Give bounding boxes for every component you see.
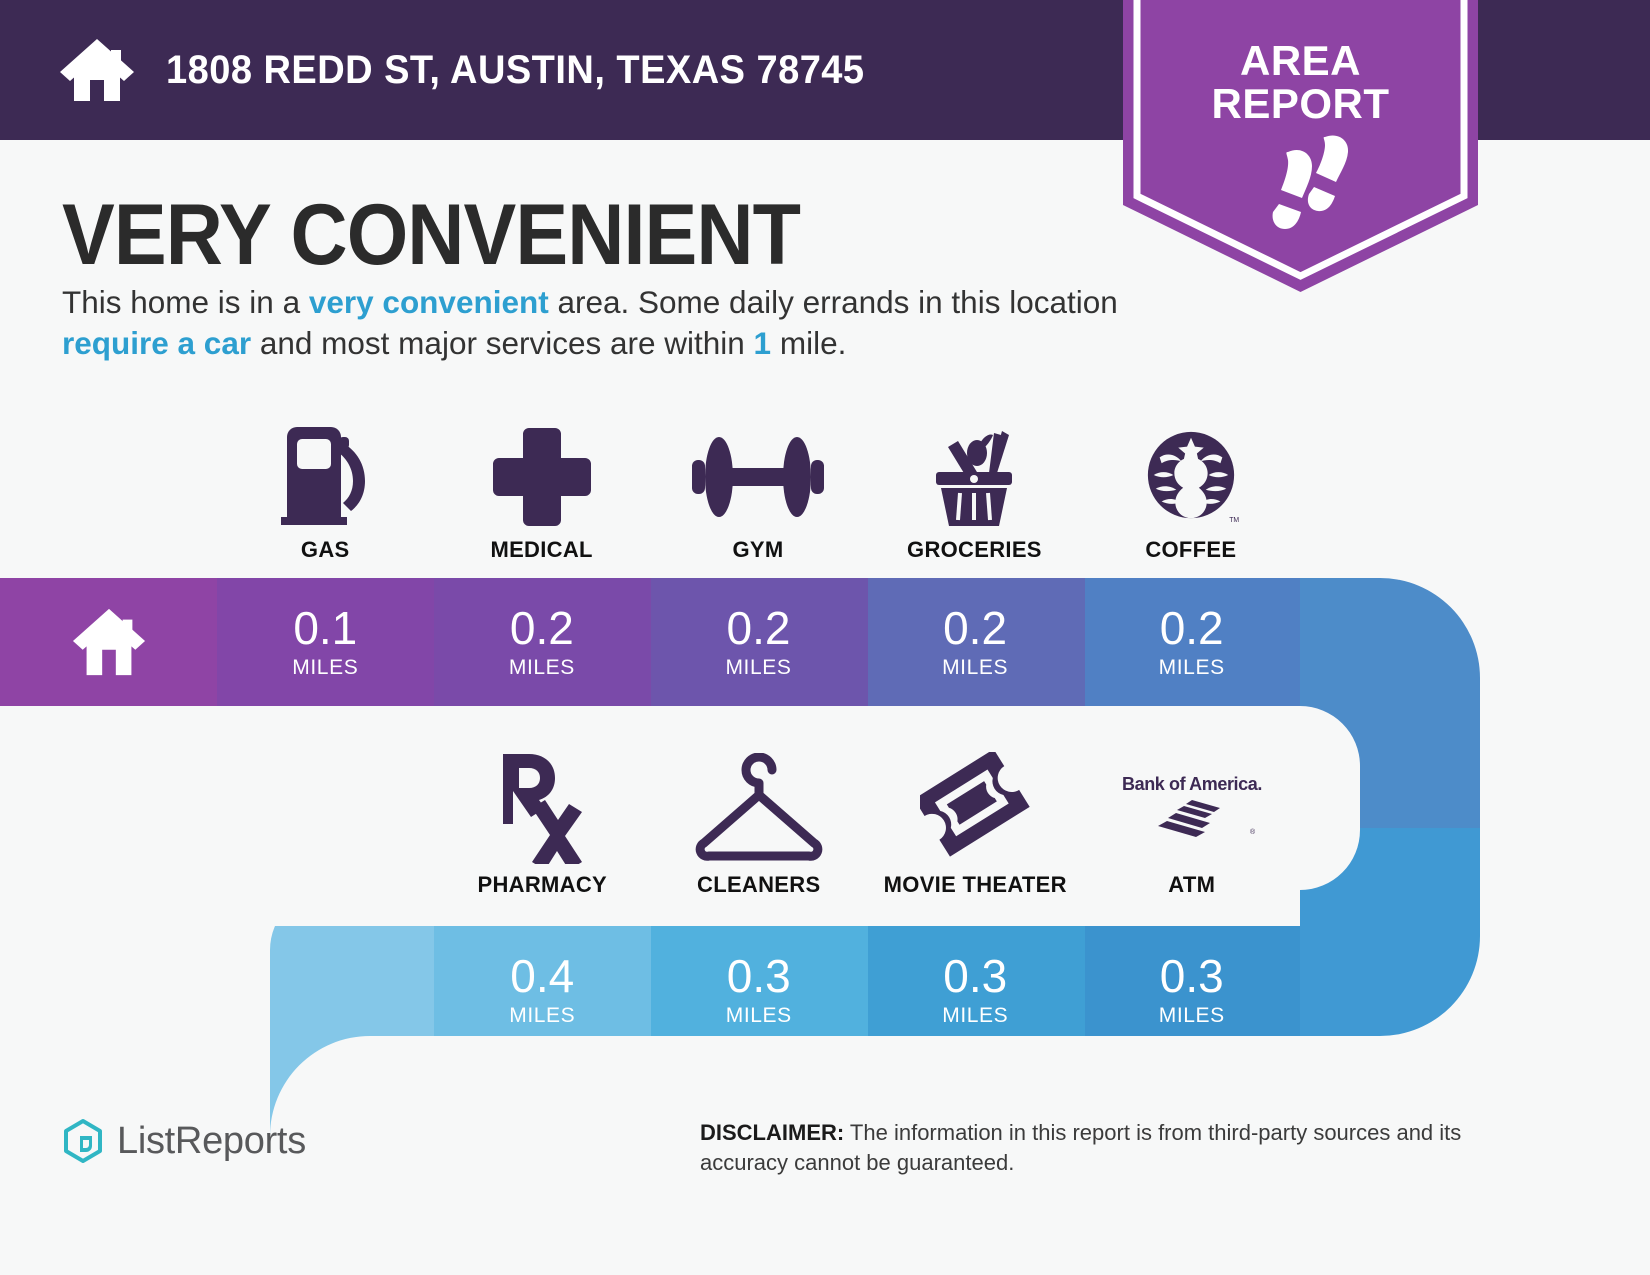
service-label: MEDICAL [490,537,592,563]
distance-unit: MILES [1159,1004,1225,1028]
medical-cross-icon [493,424,591,529]
distance-cell-movie-theater: 0.3 MILES [867,926,1084,1054]
distance-value: 0.3 [727,953,791,999]
distance-unit: MILES [509,656,575,680]
badge-line-2: REPORT [1123,83,1478,126]
service-gym: GYM [650,418,866,563]
distance-value: 0.4 [510,953,574,999]
listreports-house-icon [62,1118,104,1164]
summary-part-3: and most major services are within [251,325,753,361]
service-groceries: GROCERIES [866,418,1082,563]
disclaimer: DISCLAIMER: The information in this repo… [700,1118,1520,1178]
distance-cell-pharmacy: 0.4 MILES [434,926,651,1054]
badge-title: AREA REPORT [1123,40,1478,126]
distance-unit: MILES [292,656,358,680]
distance-unit: MILES [1159,656,1225,680]
distance-value-row-1: 0.1 MILES 0.2 MILES 0.2 MILES 0.2 MILES … [0,578,1300,706]
distance-unit: MILES [509,1004,575,1028]
property-address: 1808 REDD ST, AUSTIN, TEXAS 78745 [166,48,865,93]
service-pharmacy: PHARMACY [434,752,651,904]
service-label: PHARMACY [477,872,607,898]
svg-text:®: ® [1250,828,1256,836]
area-report-badge: AREA REPORT [1123,0,1478,292]
rx-icon [499,752,585,864]
service-label: CLEANERS [697,872,820,898]
service-label: COFFEE [1145,537,1236,563]
service-label: ATM [1168,872,1215,898]
summary-highlight-1: very convenient [309,284,549,320]
service-label: GYM [733,537,784,563]
distance-unit: MILES [942,656,1008,680]
dumbbell-icon [692,424,824,529]
distance-value: 0.1 [293,605,357,651]
distance-value: 0.2 [1160,605,1224,651]
summary-part-4: mile. [771,325,846,361]
distance-cell-cleaners: 0.3 MILES [651,926,868,1054]
summary-highlight-3: 1 [754,325,772,361]
distance-cell-coffee: 0.2 MILES [1083,578,1300,706]
distance-value: 0.3 [1160,953,1224,999]
distance-cell-atm: 0.3 MILES [1084,926,1301,1054]
bank-of-america-logo-icon: Bank of America. ® [1122,752,1262,864]
summary-part-1: This home is in a [62,284,309,320]
ribbon-turn-left-tail [260,926,434,1275]
distance-value: 0.3 [943,953,1007,999]
summary-highlight-2: require a car [62,325,251,361]
disclaimer-label: DISCLAIMER: [700,1120,844,1145]
service-medical: MEDICAL [433,418,649,563]
distance-unit: MILES [942,1004,1008,1028]
listreports-logo[interactable]: ListReports [62,1118,306,1164]
service-label: MOVIE THEATER [884,872,1067,898]
summary-paragraph: This home is in a very convenient area. … [62,282,1122,364]
home-icon [71,604,147,680]
svg-text:TM: TM [1229,517,1239,524]
brand-name: ListReports [117,1120,306,1163]
service-cleaners: CLEANERS [651,752,868,904]
service-label: GROCERIES [907,537,1042,563]
movie-ticket-icon [920,752,1030,864]
svg-text:Bank of America.: Bank of America. [1122,774,1262,794]
distance-value: 0.2 [943,605,1007,651]
clothes-hanger-icon [694,752,824,864]
starbucks-logo-icon: TM [1142,424,1240,529]
service-icon-row-1: GAS MEDICAL GYM [217,418,1299,563]
distance-value-row-2: 0.4 MILES 0.3 MILES 0.3 MILES 0.3 MILES [434,926,1300,1054]
service-gas: GAS [217,418,433,563]
summary-part-2: area. Some daily errands in this locatio… [549,284,1118,320]
service-icon-row-2: PHARMACY CLEANERS MOVIE THEATER Ba [434,752,1300,904]
distance-unit: MILES [726,1004,792,1028]
service-atm: Bank of America. ® ATM [1084,752,1301,904]
distance-cell-medical: 0.2 MILES [434,578,651,706]
home-icon [58,35,136,105]
distance-cell-gas: 0.1 MILES [217,578,434,706]
service-label: GAS [301,537,350,563]
page-title: VERY CONVENIENT [62,186,800,285]
distance-cell-gym: 0.2 MILES [650,578,867,706]
service-movie-theater: MOVIE THEATER [867,752,1084,904]
distance-value: 0.2 [727,605,791,651]
grocery-basket-icon [922,424,1026,529]
home-marker [0,578,217,706]
service-coffee: TM COFFEE [1083,418,1299,563]
ribbon-turn-right-lower [1300,828,1650,1088]
distance-unit: MILES [725,656,791,680]
gas-pump-icon [277,424,373,529]
badge-line-1: AREA [1240,37,1361,84]
distance-cell-groceries: 0.2 MILES [867,578,1084,706]
distance-value: 0.2 [510,605,574,651]
